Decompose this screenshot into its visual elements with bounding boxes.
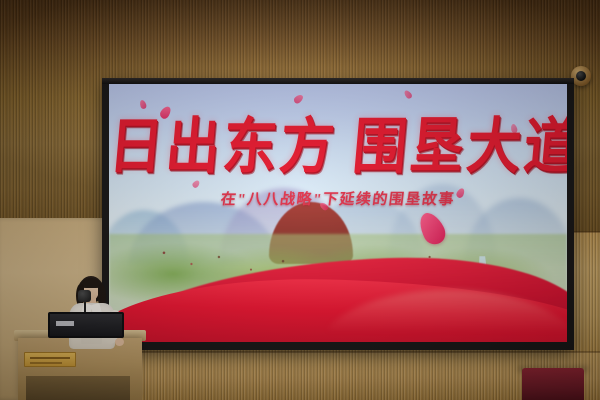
slide-title-part-2: 围垦大道 bbox=[350, 113, 567, 180]
petal-icon bbox=[139, 99, 148, 110]
camera-dome-icon bbox=[571, 66, 591, 86]
petal-icon bbox=[292, 93, 304, 105]
microphone-icon bbox=[78, 290, 91, 302]
photo-scene: 日出东方围垦大道 在"八八战略"下延续的围垦故事 bbox=[0, 0, 600, 400]
projection-screen-frame: 日出东方围垦大道 在"八八战略"下延续的围垦故事 bbox=[102, 78, 574, 350]
laptop-screen-glare bbox=[56, 321, 74, 326]
petal-icon bbox=[403, 89, 413, 100]
slide-subtitle: 在"八八战略"下延续的围垦故事 bbox=[109, 188, 567, 209]
camera-lens bbox=[576, 71, 586, 81]
presenter-hand bbox=[115, 338, 124, 346]
auditorium-chair bbox=[522, 368, 584, 400]
presenter-laptop bbox=[48, 312, 124, 338]
presentation-slide: 日出东方围垦大道 在"八八战略"下延续的围垦故事 bbox=[109, 84, 567, 342]
podium-plaque bbox=[24, 352, 76, 367]
podium-base bbox=[26, 376, 130, 400]
slide-title-part-1: 日出东方 bbox=[109, 113, 340, 180]
slide-title: 日出东方围垦大道 bbox=[109, 117, 567, 177]
